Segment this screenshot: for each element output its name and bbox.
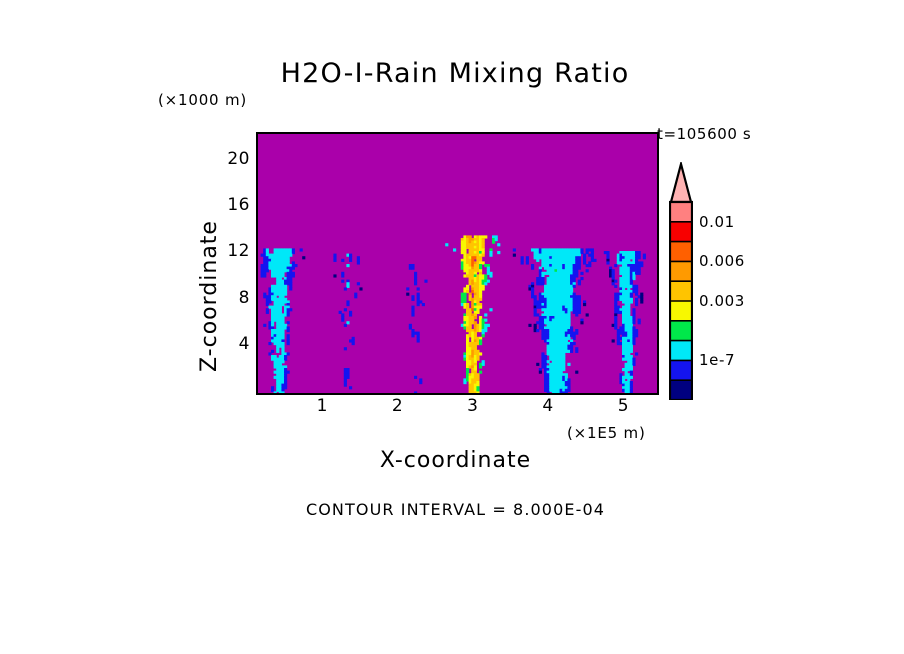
- heatmap-canvas: [258, 134, 657, 393]
- colorbar-tick-label: 1e-7: [699, 351, 735, 369]
- colorbar-tick-label: 0.01: [699, 213, 735, 231]
- x-tick-label: 4: [528, 396, 568, 416]
- x-tick-label: 2: [378, 396, 418, 416]
- colorbar-swatches: [669, 162, 693, 400]
- colorbar-tick-label: 0.003: [699, 292, 745, 310]
- y-tick-label: 16: [210, 195, 250, 215]
- time-stamp-label: t=105600 s: [657, 125, 751, 143]
- colorbar-labels: 0.010.0060.0031e-7: [699, 162, 809, 400]
- x-tick-label: 1: [302, 396, 342, 416]
- y-tick-label: 4: [210, 334, 250, 354]
- y-tick-label: 8: [210, 288, 250, 308]
- x-axis-ticks: 12345: [256, 396, 655, 420]
- y-tick-label: 12: [210, 241, 250, 261]
- y-axis-unit-label: (×1000 m): [158, 91, 247, 109]
- y-axis-ticks: 20161284: [200, 132, 250, 391]
- colorbar: [669, 162, 693, 400]
- x-tick-label: 3: [453, 396, 493, 416]
- page-title: H2O-I-Rain Mixing Ratio: [255, 58, 655, 89]
- plot-area: [256, 132, 659, 395]
- y-tick-label: 20: [210, 149, 250, 169]
- x-axis-unit-label: (×1E5 m): [567, 424, 646, 442]
- contour-interval-caption: CONTOUR INTERVAL = 8.000E-04: [256, 500, 655, 519]
- colorbar-tick-label: 0.006: [699, 252, 745, 270]
- x-axis-title: X-coordinate: [256, 448, 655, 473]
- x-tick-label: 5: [603, 396, 643, 416]
